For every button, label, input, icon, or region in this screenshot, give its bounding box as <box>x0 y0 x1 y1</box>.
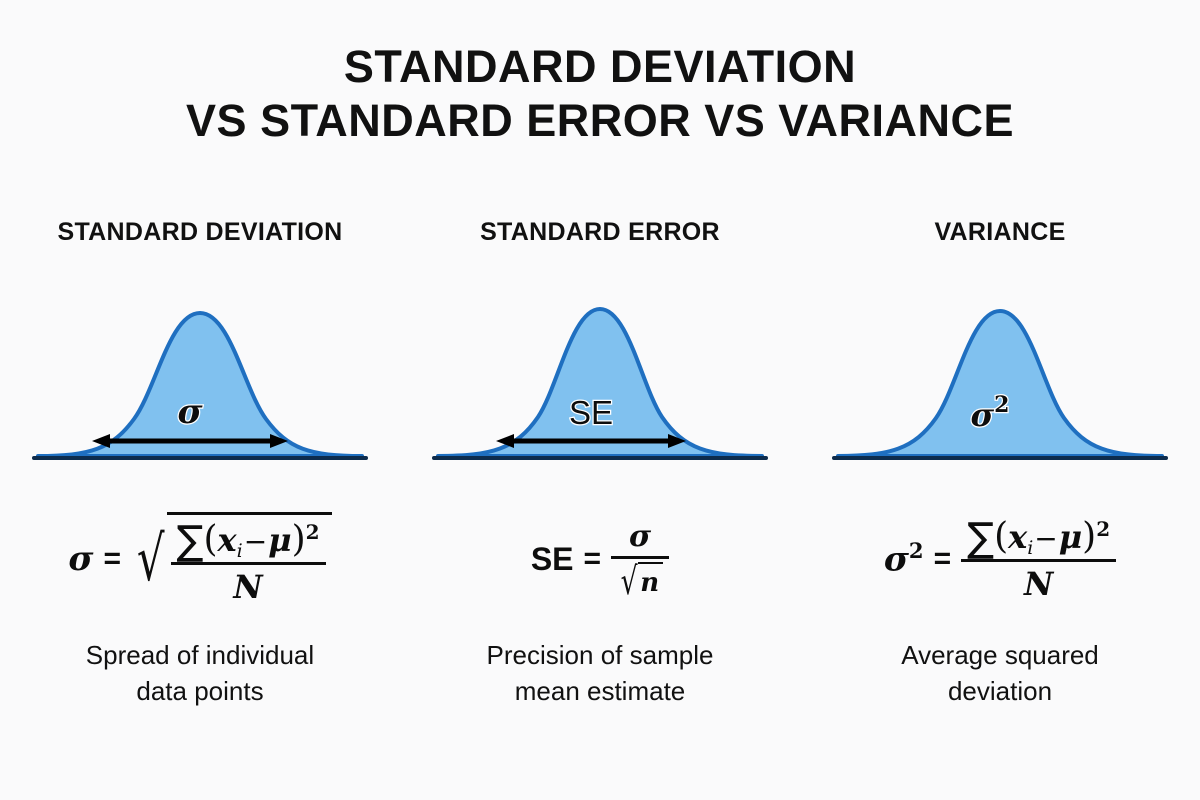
paren-close-1: ) <box>292 519 306 560</box>
summation-sign-1: ∑ <box>177 521 204 561</box>
caption-line-3a: Average squared <box>830 637 1170 673</box>
power-two-3: 2 <box>1096 517 1110 541</box>
formula-variance: σ2 = ∑ ( x i − μ ) 2 N <box>884 499 1116 619</box>
formula-fraction-2: σ √ n <box>611 519 669 600</box>
denominator-n-2: n <box>640 568 659 598</box>
formula-radical-1: √ ∑ ( x i − μ ) 2 <box>131 512 332 606</box>
caption-standard-deviation: Spread of individual data points <box>30 637 370 709</box>
power-two-1: 2 <box>306 520 320 544</box>
title-line-2: VS STANDARD ERROR VS VARIANCE <box>0 94 1200 148</box>
radical-sign-icon-2: √ <box>621 562 638 600</box>
bell-curve-svg-2: SE <box>430 291 770 471</box>
column-header-standard-deviation: STANDARD DEVIATION <box>57 215 342 249</box>
formula-lhs-sigma: σ <box>68 539 93 579</box>
mean-mu-3: μ <box>1059 518 1082 556</box>
column-header-variance: VARIANCE <box>934 215 1065 249</box>
mean-mu-1: μ <box>268 521 291 559</box>
caption-variance: Average squared deviation <box>830 637 1170 709</box>
curve-label-sigma-exponent: 2 <box>994 392 1009 418</box>
formula-fraction-3: ∑ ( x i − μ ) 2 N <box>961 515 1116 603</box>
caption-line-2b: mean estimate <box>430 673 770 709</box>
minus-sign-1: − <box>243 525 268 558</box>
fraction-denominator-2: √ n <box>611 559 669 600</box>
comparison-columns: STANDARD DEVIATION σ σ = √ <box>0 215 1200 709</box>
column-standard-deviation: STANDARD DEVIATION σ σ = √ <box>0 215 400 709</box>
caption-standard-error: Precision of sample mean estimate <box>430 637 770 709</box>
minus-sign-3: − <box>1033 522 1058 555</box>
caption-line-3b: deviation <box>830 673 1170 709</box>
fraction-numerator-1: ∑ ( x i − μ ) 2 <box>171 518 326 562</box>
variable-x-3: x <box>1008 518 1027 556</box>
column-header-standard-error: STANDARD ERROR <box>480 215 720 249</box>
radical-sign-icon-1: √ <box>137 512 165 606</box>
fraction-numerator-2: σ <box>623 519 657 556</box>
formula-fraction-1: ∑ ( x i − μ ) 2 N <box>171 518 326 606</box>
formula-lhs-sigma-squared: σ2 <box>884 538 924 579</box>
caption-line-1a: Spread of individual <box>30 637 370 673</box>
bell-curve-variance: σ2 <box>830 291 1170 471</box>
paren-open-3: ( <box>994 516 1008 557</box>
formula-lhs-exponent: 2 <box>909 538 924 563</box>
bell-curve-svg-3: σ2 <box>830 291 1170 471</box>
fraction-denominator-3: N <box>1018 562 1059 603</box>
curve-path-1 <box>38 313 362 456</box>
summation-sign-3: ∑ <box>967 518 994 558</box>
page-title: STANDARD DEVIATION VS STANDARD ERROR VS … <box>0 40 1200 148</box>
fraction-numerator-3: ∑ ( x i − μ ) 2 <box>961 515 1116 559</box>
caption-line-1b: data points <box>30 673 370 709</box>
curve-label-sigma-base: σ <box>971 396 995 434</box>
formula-lhs-sigma-base: σ <box>884 540 909 580</box>
caption-line-2a: Precision of sample <box>430 637 770 673</box>
formula-standard-error: SE = σ √ n <box>531 499 669 619</box>
paren-close-3: ) <box>1082 516 1096 557</box>
bell-curve-svg-1: σ <box>30 291 370 471</box>
fraction-denominator-1: N <box>227 565 268 606</box>
curve-label-se: SE <box>569 394 613 431</box>
column-standard-error: STANDARD ERROR SE SE = σ <box>400 215 800 709</box>
paren-open-1: ( <box>204 519 218 560</box>
curve-path-2 <box>438 309 762 456</box>
curve-path-3 <box>838 311 1162 456</box>
formula-lhs-se: SE <box>531 541 574 578</box>
subscript-i-3: i <box>1027 537 1033 559</box>
denominator-N-3: N <box>1024 565 1053 603</box>
formula-standard-deviation: σ = √ ∑ ( x i − μ ) <box>68 499 331 619</box>
numerator-sigma-2: σ <box>629 519 651 554</box>
formula-equals-2: = <box>584 542 602 576</box>
bell-curve-standard-deviation: σ <box>30 291 370 471</box>
column-variance: VARIANCE σ2 σ2 = ∑ ( x i − μ <box>800 215 1200 709</box>
denominator-N-1: N <box>233 568 262 606</box>
subscript-i-1: i <box>237 540 243 562</box>
formula-equals-1: = <box>104 542 122 576</box>
sqrt-n-2: √ n <box>617 562 663 600</box>
bell-curve-standard-error: SE <box>430 291 770 471</box>
title-line-1: STANDARD DEVIATION <box>0 40 1200 94</box>
formula-equals-3: = <box>934 542 952 576</box>
curve-label-sigma: σ <box>177 392 203 432</box>
variable-x-1: x <box>218 521 237 559</box>
